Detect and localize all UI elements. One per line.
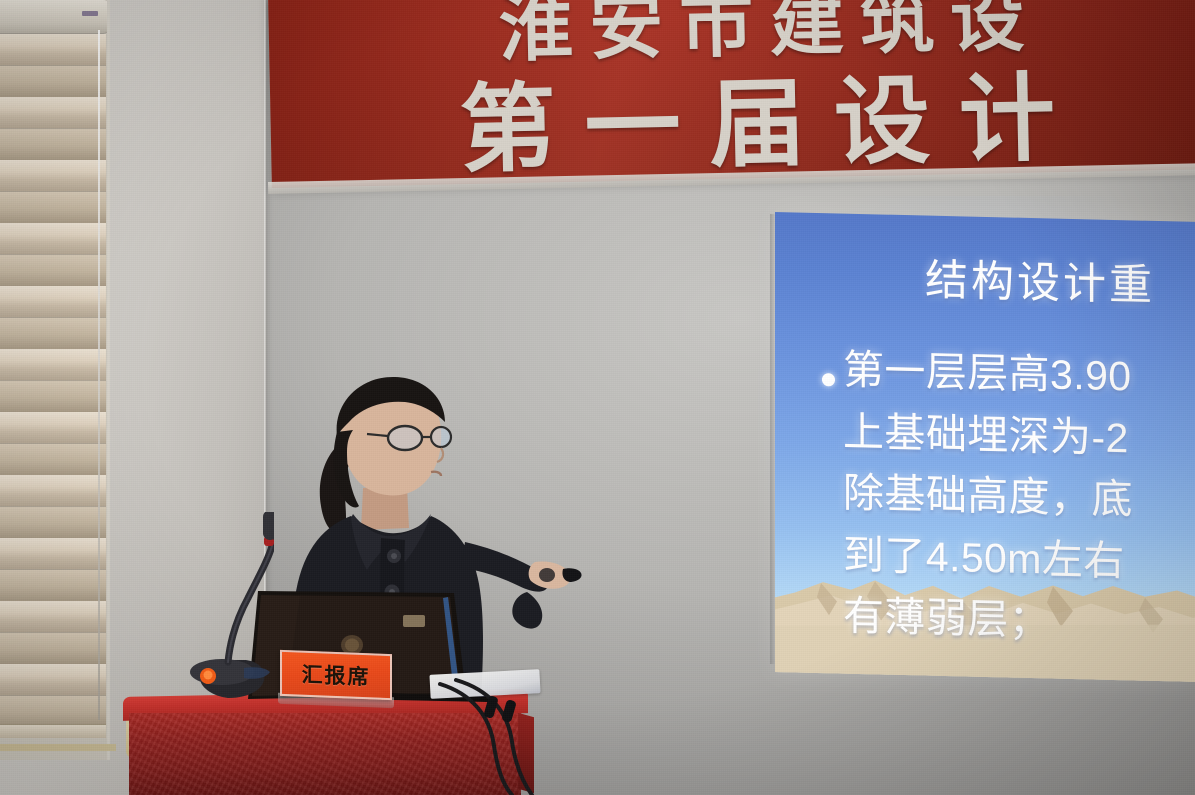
slide-body-text: 第一层层高3.90 上基础埋深为-2 除基础高度，底 到了4.50m左右 有薄弱…	[843, 340, 1195, 657]
slide-title: 结构设计重	[925, 246, 1155, 313]
laser-pointer	[562, 568, 581, 582]
blinds-bottom-rail	[0, 724, 106, 738]
name-card: 汇报席	[276, 648, 398, 710]
blind-slat	[0, 223, 106, 255]
presentation-photo-scene: 淮安市建筑设 第一届设计 结构设计重 第一层层高3.90 上基础埋深为-2 除基	[0, 0, 1195, 795]
slide-line-5: 有薄弱层；	[843, 586, 1195, 657]
window-blinds	[0, 0, 110, 760]
blind-slat	[0, 664, 106, 696]
slide-line-3: 除基础高度，底	[843, 463, 1195, 534]
blinds-slats	[0, 34, 106, 724]
blind-slat	[0, 412, 106, 444]
blind-slat	[0, 696, 106, 728]
blinds-tag	[82, 11, 98, 16]
blind-slat	[0, 160, 106, 192]
blind-slat	[0, 255, 106, 287]
blind-slat	[0, 286, 106, 318]
slide-line-2: 上基础埋深为-2	[843, 401, 1195, 472]
name-card-face: 汇报席	[280, 650, 392, 700]
name-card-text: 汇报席	[302, 659, 371, 692]
projection-screen: 结构设计重 第一层层高3.90 上基础埋深为-2 除基础高度，底 到了4.50m…	[775, 212, 1195, 672]
blind-slat	[0, 570, 106, 602]
blind-slat	[0, 129, 106, 161]
conference-microphone[interactable]	[182, 512, 274, 708]
blind-slat	[0, 97, 106, 129]
blinds-floor-rail	[0, 744, 116, 751]
blind-slat	[0, 318, 106, 350]
blind-slat	[0, 349, 106, 381]
blinds-cord[interactable]	[98, 30, 100, 720]
blinds-headrail	[0, 0, 110, 34]
blind-slat	[0, 633, 106, 665]
slide-line-1: 第一层层高3.90	[843, 340, 1195, 411]
blind-slat	[0, 444, 106, 476]
slide-surface: 结构设计重 第一层层高3.90 上基础埋深为-2 除基础高度，底 到了4.50m…	[775, 212, 1195, 682]
blind-slat	[0, 381, 106, 413]
cables	[420, 660, 600, 795]
blind-slat	[0, 538, 106, 570]
blind-slat	[0, 475, 106, 507]
event-banner: 淮安市建筑设 第一届设计	[268, 0, 1195, 188]
slide-bullet-marker	[822, 373, 835, 386]
blind-slat	[0, 601, 106, 633]
laptop-sticker	[403, 615, 425, 627]
blind-slat	[0, 192, 106, 224]
blind-slat	[0, 34, 106, 66]
blind-slat	[0, 507, 106, 539]
microphone-capsule	[263, 512, 274, 540]
slide-line-4: 到了4.50m左右	[843, 524, 1195, 595]
blind-slat	[0, 66, 106, 98]
